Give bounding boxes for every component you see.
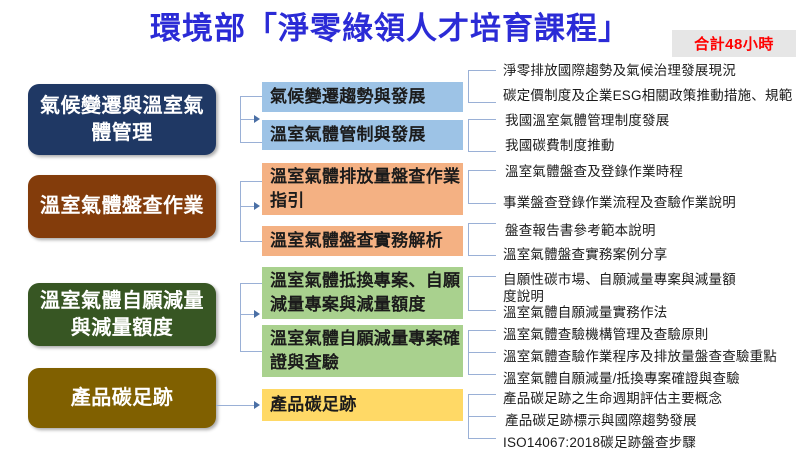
course-label: 產品碳足跡: [270, 393, 357, 417]
course-box-offset-program[interactable]: 溫室氣體抵換專案、自願減量專案與減量額度: [262, 267, 463, 319]
topic-bracket: [468, 276, 469, 310]
topic-line: [468, 170, 496, 171]
connector-arrow: [254, 115, 260, 123]
page-title: 環境部「淨零綠領人才培育課程」: [110, 10, 670, 48]
topic-item: 溫室氣體盤查實務案例分享: [503, 246, 799, 263]
topic-line: [468, 276, 496, 277]
topic-item: 溫室氣體查驗作業程序及排放量盤查查驗重點: [503, 348, 800, 365]
topic-bracket: [468, 223, 469, 255]
topic-line: [468, 119, 496, 120]
topic-item: 事業盤查登錄作業流程及查驗作業說明: [503, 194, 799, 211]
total-hours-badge: 合計48小時: [672, 30, 796, 57]
course-label: 溫室氣體盤查實務解析: [270, 229, 443, 253]
topic-line: [468, 416, 496, 417]
connector-line: [240, 181, 241, 241]
course-box-validation-verification[interactable]: 溫室氣體自願減量專案確證與查驗: [262, 325, 463, 377]
connector-line: [240, 351, 262, 352]
course-label: 溫室氣體抵換專案、自願減量專案與減量額度: [270, 269, 463, 317]
module-box-climate-change[interactable]: 氣候變遷與溫室氣體管理: [28, 84, 216, 155]
connector-line: [240, 142, 262, 143]
course-box-emission-inventory-guide[interactable]: 溫室氣體排放量盤查作業指引: [262, 163, 463, 215]
course-box-inventory-practice[interactable]: 溫室氣體盤查實務解析: [262, 226, 463, 256]
connector-line: [240, 96, 262, 97]
topic-line: [468, 255, 496, 256]
topic-line: [468, 374, 496, 375]
topic-item: 淨零排放國際趨勢及氣候治理發展現況: [503, 62, 799, 79]
connector-arrow: [254, 310, 260, 318]
connector-arrow: [254, 401, 260, 409]
connector-line: [240, 283, 262, 284]
topic-line: [468, 223, 496, 224]
topic-line: [468, 203, 496, 204]
total-hours-label: 合計48小時: [694, 33, 774, 54]
topic-line: [468, 394, 496, 395]
topic-item: 碳定價制度及企業ESG相關政策推動措施、規範: [503, 87, 799, 104]
module-label: 溫室氣體自願減量與減量額度: [36, 288, 208, 342]
connector-line: [216, 405, 256, 406]
topic-item: ISO14067:2018碳足跡盤查步驟: [503, 434, 799, 451]
topic-item: 溫室氣體自願減量/抵換專案確證與查驗: [503, 370, 800, 387]
topic-line: [468, 70, 496, 71]
topic-item: 溫室氣體查驗機構管理及查驗原則: [503, 326, 799, 343]
topic-item: 溫室氣體盤查及登錄作業時程: [505, 163, 800, 180]
connector-line: [240, 241, 262, 242]
topic-bracket: [468, 170, 469, 203]
connector-line: [240, 181, 262, 182]
course-label: 溫室氣體排放量盤查作業指引: [270, 165, 463, 213]
module-label: 產品碳足跡: [71, 385, 174, 412]
topic-bracket: [468, 70, 469, 102]
module-box-voluntary-reduction[interactable]: 溫室氣體自願減量與減量額度: [28, 283, 216, 346]
module-box-ghg-inventory[interactable]: 溫室氣體盤查作業: [28, 175, 216, 238]
topic-item: 產品碳足跡之生命週期評估主要概念: [503, 390, 799, 407]
topic-line: [468, 438, 496, 439]
topic-item: 盤查報告書參考範本說明: [505, 222, 800, 239]
connector-arrow: [254, 202, 260, 210]
topic-item: 我國溫室氣體管理制度發展: [505, 112, 800, 129]
topic-line: [468, 352, 496, 353]
module-box-carbon-footprint[interactable]: 產品碳足跡: [28, 368, 216, 428]
topic-line: [468, 310, 496, 311]
topic-item: 自願性碳市場、自願減量專案與減量額度說明: [503, 271, 746, 305]
topic-item: 產品碳足跡標示與國際趨勢發展: [505, 412, 800, 429]
module-label: 溫室氣體盤查作業: [40, 193, 204, 220]
course-label: 氣候變遷趨勢與發展: [270, 85, 426, 109]
topic-line: [468, 151, 496, 152]
course-label: 溫室氣體自願減量專案確證與查驗: [270, 327, 463, 375]
topic-bracket: [468, 119, 469, 151]
topic-line: [468, 102, 496, 103]
course-box-product-carbon-footprint[interactable]: 產品碳足跡: [262, 389, 463, 421]
topic-line: [468, 330, 496, 331]
topic-item: 我國碳費制度推動: [505, 137, 800, 154]
connector-line: [240, 283, 241, 351]
slide-canvas: 環境部「淨零綠領人才培育課程」 合計48小時 氣候變遷與溫室氣體管理 溫室氣體盤…: [0, 0, 800, 450]
course-box-ghg-regulation[interactable]: 溫室氣體管制與發展: [262, 120, 463, 150]
module-label: 氣候變遷與溫室氣體管理: [36, 93, 208, 147]
course-box-climate-trends[interactable]: 氣候變遷趨勢與發展: [262, 82, 463, 112]
course-label: 溫室氣體管制與發展: [270, 123, 426, 147]
topic-item: 溫室氣體自願減量實務作法: [503, 304, 799, 321]
connector-line: [240, 96, 241, 142]
